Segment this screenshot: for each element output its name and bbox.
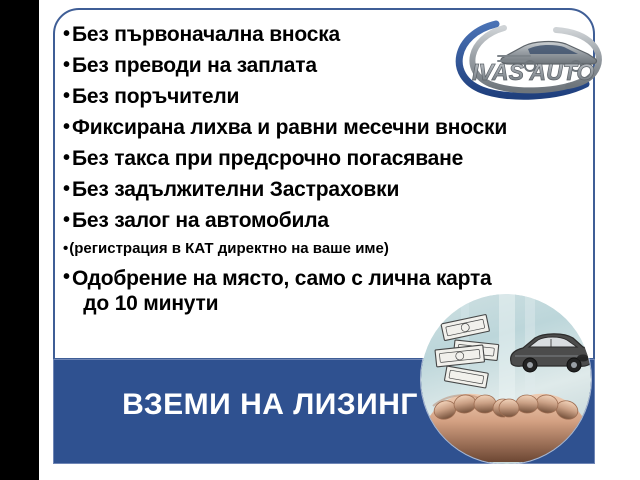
hands-money-car-photo: [421, 294, 591, 464]
benefit-text: Без залог на автомобила: [72, 210, 587, 231]
benefit-text: Без такса при предсрочно погасяване: [72, 148, 587, 169]
bullet-icon: •: [63, 86, 70, 106]
bullet-icon: •: [63, 210, 70, 230]
bullet-icon: •: [63, 55, 70, 75]
list-item: • Без задължителни Застраховки: [63, 179, 587, 200]
bullet-icon: •: [63, 179, 70, 199]
poster-canvas: • Без първоначална вноска • Без преводи …: [0, 0, 640, 480]
car-logo-icon: IVAS AUTO: [438, 14, 618, 100]
bullet-icon: •: [63, 148, 70, 168]
bullet-icon: •: [63, 267, 70, 287]
benefit-text: Фиксирана лихва и равни месечни вноски: [72, 117, 587, 138]
benefit-text: Без задължителни Застраховки: [72, 179, 587, 200]
cta-label: ВЗЕМИ НА ЛИЗИНГ: [90, 390, 450, 420]
list-item: • Без такса при предсрочно погасяване: [63, 148, 587, 169]
brand-logo: IVAS AUTO: [438, 14, 618, 100]
list-item: • Без залог на автомобила: [63, 210, 587, 231]
list-item: • Фиксирана лихва и равни месечни вноски: [63, 117, 587, 138]
bullet-icon: •: [63, 117, 70, 137]
bullet-icon: •: [63, 241, 68, 256]
list-item-note: • (регистрация в КАТ директно на ваше им…: [63, 241, 587, 256]
brand-logo-text: IVAS AUTO: [472, 59, 594, 85]
benefit-note-text: (регистрация в КАТ директно на ваше име): [69, 241, 587, 256]
letterbox-bar-left: [0, 0, 39, 480]
hands-photo-illustration: [421, 294, 591, 464]
bullet-icon: •: [63, 24, 70, 44]
